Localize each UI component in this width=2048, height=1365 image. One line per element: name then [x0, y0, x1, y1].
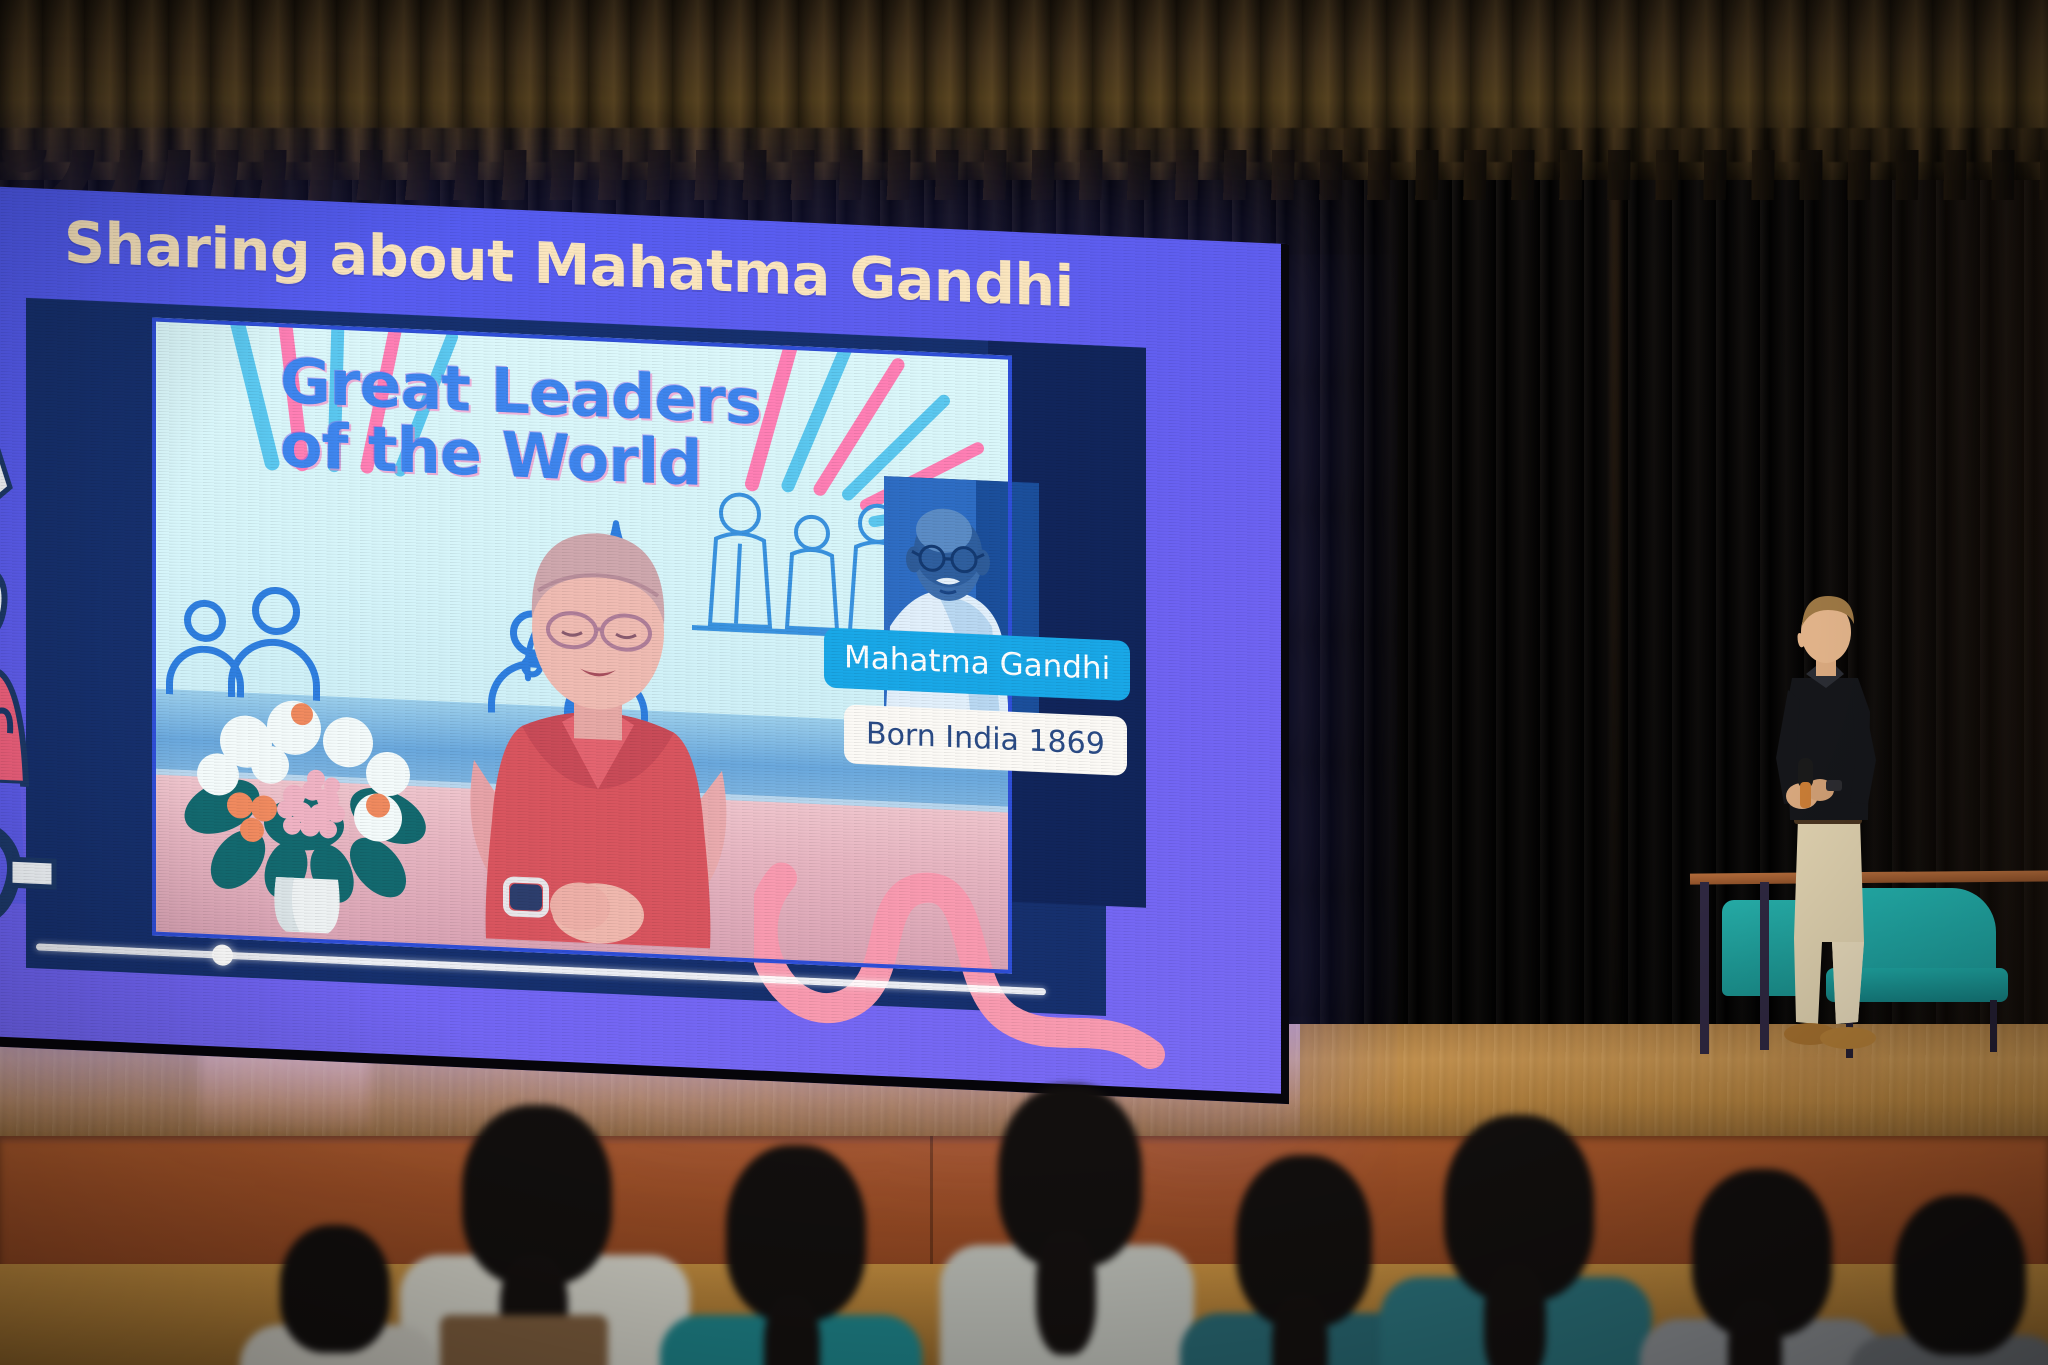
flower-bouquet	[182, 687, 432, 948]
valance-scallop	[0, 150, 2048, 200]
auditorium-scene: Great Leaders of the World	[0, 0, 2048, 1365]
chair-leg	[1990, 1000, 1997, 1052]
audience-person	[240, 1215, 440, 1365]
audience-person	[660, 1145, 930, 1365]
presenter-person	[1740, 590, 1910, 1060]
curtain-seam	[1610, 170, 1620, 1050]
video-progress-handle[interactable]	[212, 944, 233, 966]
audience-person	[1848, 1195, 2048, 1365]
video-speaker-woman	[448, 511, 748, 964]
video-headline: Great Leaders of the World	[280, 349, 761, 499]
pink-squiggle-decoration	[754, 840, 1174, 1104]
label-gandhi-birth: Born India 1869	[844, 704, 1127, 776]
audience-foreground	[0, 1085, 2048, 1365]
led-screen: Great Leaders of the World	[0, 186, 1289, 1104]
audience-chair	[440, 1315, 610, 1365]
audience-person	[1380, 1115, 1660, 1365]
table-leg	[1700, 882, 1709, 1054]
person-outline-icon	[228, 585, 324, 701]
illustrated-left-figure	[0, 363, 104, 971]
audience-person	[940, 1085, 1200, 1365]
